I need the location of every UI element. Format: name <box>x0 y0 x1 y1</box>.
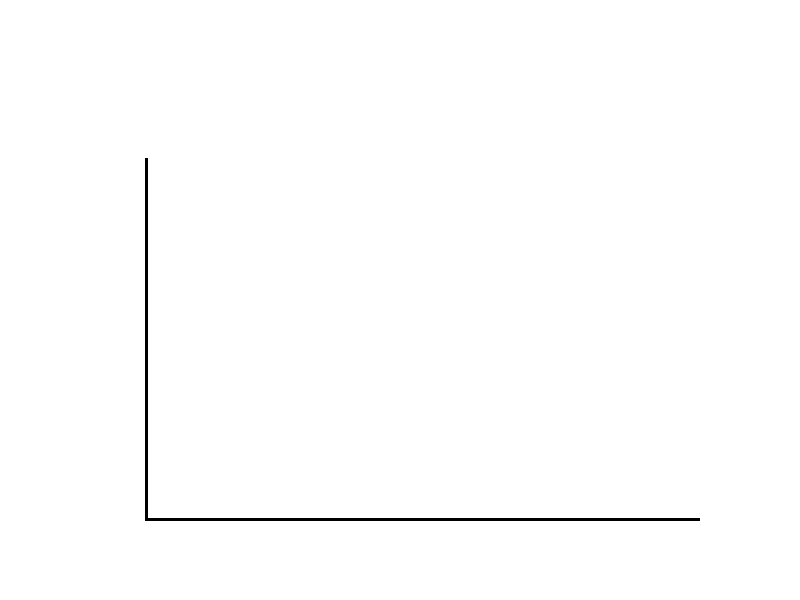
data-series-layer <box>146 158 700 518</box>
elisa-chart <box>0 0 800 600</box>
x-axis-title <box>0 562 800 585</box>
plot-area <box>146 158 700 518</box>
chart-title-block <box>0 4 800 8</box>
x-axis-line <box>145 518 700 521</box>
